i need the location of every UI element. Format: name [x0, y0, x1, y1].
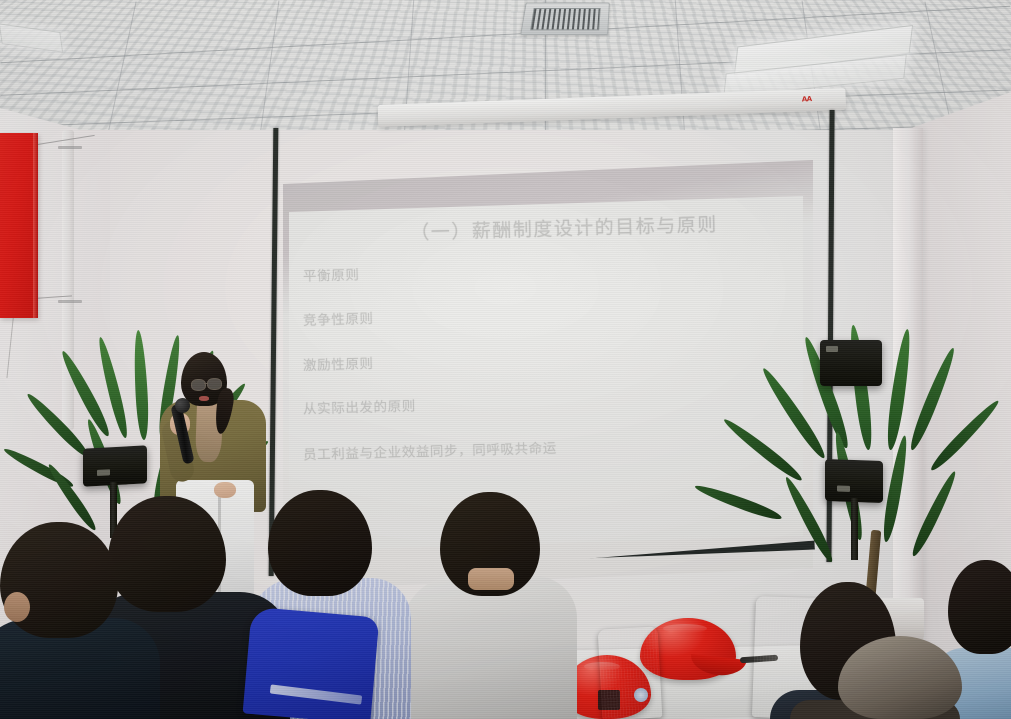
presenter-glasses-bridge [204, 383, 208, 384]
presenter-right-hand [214, 482, 236, 498]
attendee-ear [4, 592, 30, 622]
attendee-head [108, 496, 226, 612]
attendee-neck [468, 568, 514, 590]
presenter-glasses-right-lens [207, 378, 222, 390]
helmet-highlight [663, 624, 707, 633]
presenter-glasses-left-lens [191, 379, 206, 391]
attendee-body [402, 576, 577, 719]
presenter-mouth [199, 396, 209, 401]
presentation-photo: AA （一）薪酬制度设计的目标与原则 平衡原则 竞争性原则 激励性原则 从实际出… [0, 0, 1011, 719]
attendee-head [268, 490, 372, 596]
chair-back [598, 626, 663, 719]
